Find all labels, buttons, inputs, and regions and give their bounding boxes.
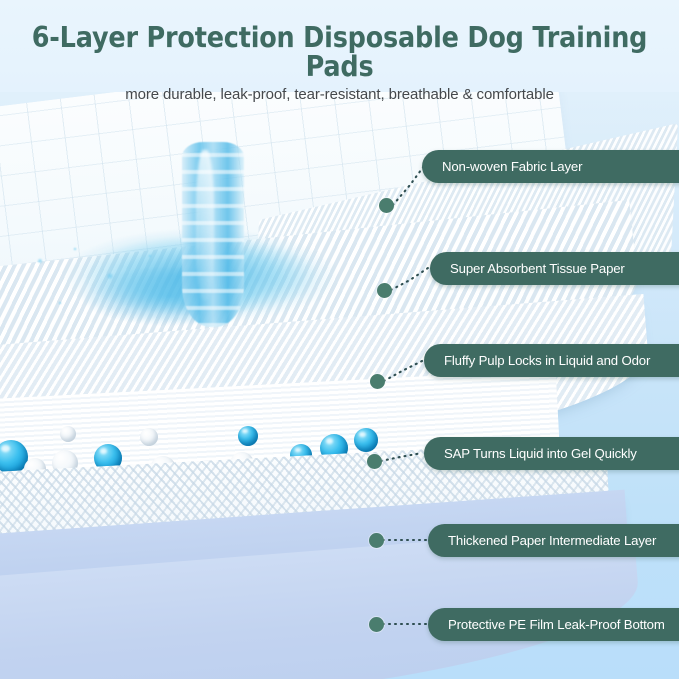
anchor-dot-2 [377, 283, 392, 298]
anchor-dot-4 [367, 454, 382, 469]
callout-label-6[interactable]: Protective PE Film Leak-Proof Bottom [428, 608, 679, 641]
callout-label-5-text: Thickened Paper Intermediate Layer [448, 533, 656, 548]
anchor-dot-1 [379, 198, 394, 213]
leader-line-4 [381, 453, 422, 461]
infographic-stage: 6-Layer Protection Disposable Dog Traini… [0, 0, 679, 679]
anchor-dot-5 [369, 533, 384, 548]
callout-label-2[interactable]: Super Absorbent Tissue Paper [430, 252, 679, 285]
header: 6-Layer Protection Disposable Dog Traini… [0, 0, 679, 92]
page-title: 6-Layer Protection Disposable Dog Traini… [0, 0, 679, 82]
anchor-dot-3 [370, 374, 385, 389]
callout-label-2-text: Super Absorbent Tissue Paper [450, 261, 625, 276]
leader-line-2 [391, 268, 428, 290]
anchor-dot-6 [369, 617, 384, 632]
leader-line-3 [384, 361, 422, 381]
callout-label-1[interactable]: Non-woven Fabric Layer [422, 150, 679, 183]
callout-label-6-text: Protective PE Film Leak-Proof Bottom [448, 617, 665, 632]
callout-label-4[interactable]: SAP Turns Liquid into Gel Quickly [424, 437, 679, 470]
callout-label-3[interactable]: Fluffy Pulp Locks in Liquid and Odor [424, 344, 679, 377]
leader-line-1 [393, 166, 424, 205]
callout-label-4-text: SAP Turns Liquid into Gel Quickly [444, 446, 637, 461]
callout-label-5[interactable]: Thickened Paper Intermediate Layer [428, 524, 679, 557]
callout-label-1-text: Non-woven Fabric Layer [442, 159, 582, 174]
callout-label-3-text: Fluffy Pulp Locks in Liquid and Odor [444, 353, 650, 368]
